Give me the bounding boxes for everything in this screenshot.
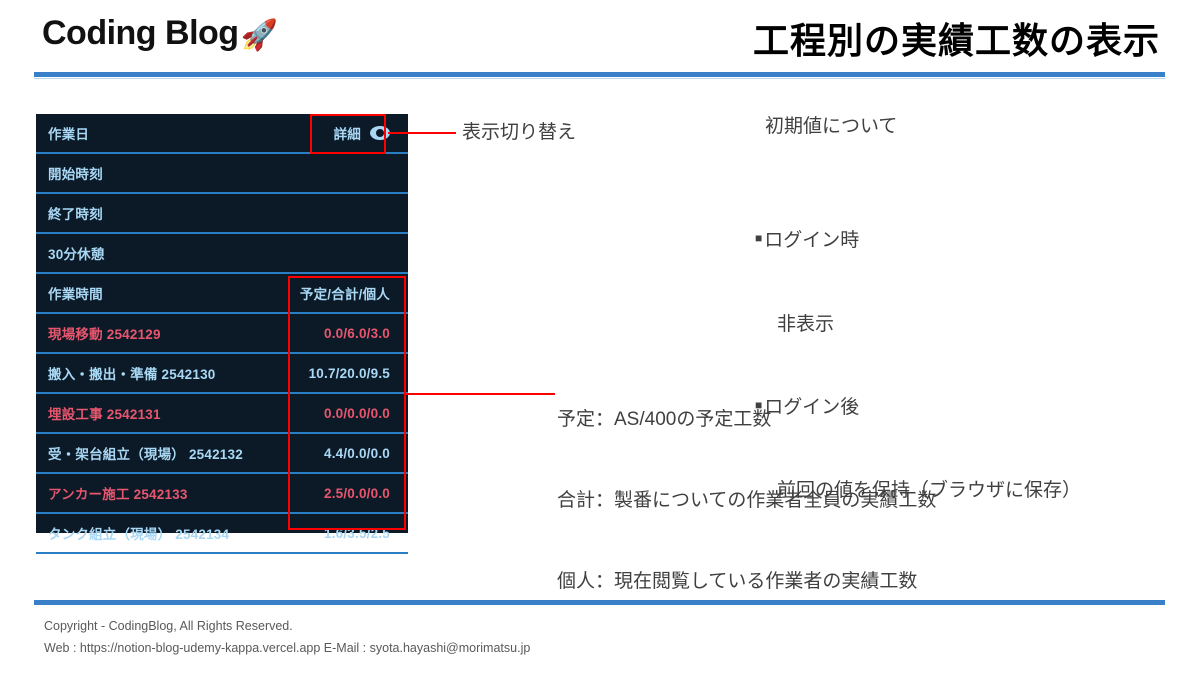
column-header-values: 予定/合計/個人 bbox=[300, 283, 396, 303]
leader-line-columns bbox=[405, 393, 555, 395]
row-label: 開始時刻 bbox=[48, 163, 103, 183]
row-value: 0.0/0.0/0.0 bbox=[324, 406, 396, 421]
slide: Coding Blog 🚀 工程別の実績工数の表示 作業日 詳細 開始時刻 終了… bbox=[0, 0, 1200, 677]
table-row[interactable]: アンカー施工 2542133 2.5/0.0/0.0 bbox=[36, 474, 408, 514]
row-value: 0.0/6.0/3.0 bbox=[324, 326, 396, 341]
footer-contact: Web : https://notion-blog-udemy-kappa.ve… bbox=[44, 638, 530, 660]
table-row[interactable]: 作業日 詳細 bbox=[36, 114, 408, 154]
row-value: 1.6/3.5/2.5 bbox=[324, 526, 396, 541]
brand-logo: Coding Blog 🚀 bbox=[42, 14, 277, 53]
table-row[interactable]: 終了時刻 bbox=[36, 194, 408, 234]
row-label: アンカー施工 2542133 bbox=[48, 483, 188, 503]
legend-line-kojin: 個人：現在閲覧している作業者の実績工数 bbox=[557, 569, 936, 596]
row-label: 受・架台組立（現場） 2542132 bbox=[48, 443, 243, 463]
row-label: 作業時間 bbox=[48, 283, 103, 303]
row-value: 4.4/0.0/0.0 bbox=[324, 446, 396, 461]
row-label: 現場移動 2542129 bbox=[48, 323, 161, 343]
table-row[interactable]: 埋設工事 2542131 0.0/0.0/0.0 bbox=[36, 394, 408, 434]
row-value: 2.5/0.0/0.0 bbox=[324, 486, 396, 501]
detail-toggle-button[interactable]: 詳細 bbox=[334, 123, 396, 143]
brand-text: Coding Blog bbox=[42, 14, 239, 53]
row-label: 作業日 bbox=[48, 123, 89, 143]
list-item-detail: 非表示 bbox=[755, 311, 1081, 339]
row-label: タンク組立（現場） 2542134 bbox=[48, 523, 229, 543]
row-value: 10.7/20.0/9.5 bbox=[309, 366, 396, 381]
header-divider-thin bbox=[34, 78, 1165, 79]
page-title: 工程別の実績工数の表示 bbox=[753, 12, 1160, 64]
rocket-icon: 🚀 bbox=[241, 21, 278, 51]
annotation-toggle: 表示切り替え bbox=[462, 120, 576, 147]
list-item: ■ ログイン後 bbox=[755, 394, 1081, 422]
list-item-detail: 前回の値を保持（ブラウザに保存） bbox=[755, 477, 1081, 505]
row-label: 終了時刻 bbox=[48, 203, 103, 223]
annotation-initial-list: ■ ログイン時 非表示 ■ ログイン後 前回の値を保持（ブラウザに保存） bbox=[755, 172, 1081, 560]
row-label: 埋設工事 2542131 bbox=[48, 403, 161, 423]
list-item-head: ログイン後 bbox=[764, 394, 859, 422]
square-bullet-icon: ■ bbox=[755, 227, 762, 250]
detail-label: 詳細 bbox=[334, 123, 361, 143]
row-label: 30分休憩 bbox=[48, 243, 105, 263]
row-label: 搬入・搬出・準備 2542130 bbox=[48, 363, 216, 383]
table-row[interactable]: 受・架台組立（現場） 2542132 4.4/0.0/0.0 bbox=[36, 434, 408, 474]
work-hours-table: 作業日 詳細 開始時刻 終了時刻 30分休憩 作業時間 予定/合計/個人 bbox=[36, 114, 408, 533]
table-row[interactable]: タンク組立（現場） 2542134 1.6/3.5/2.5 bbox=[36, 514, 408, 554]
header-divider bbox=[34, 72, 1165, 77]
table-header-row: 作業時間 予定/合計/個人 bbox=[36, 274, 408, 314]
table-row[interactable]: 搬入・搬出・準備 2542130 10.7/20.0/9.5 bbox=[36, 354, 408, 394]
table-row[interactable]: 30分休憩 bbox=[36, 234, 408, 274]
list-item: ■ ログイン時 bbox=[755, 227, 1081, 255]
leader-line-toggle bbox=[388, 132, 456, 134]
footer-divider bbox=[34, 600, 1165, 605]
table-row[interactable]: 現場移動 2542129 0.0/6.0/3.0 bbox=[36, 314, 408, 354]
eye-icon[interactable] bbox=[370, 126, 390, 140]
square-bullet-icon: ■ bbox=[755, 394, 762, 417]
footer: Copyright - CodingBlog, All Rights Reser… bbox=[44, 616, 530, 660]
footer-copyright: Copyright - CodingBlog, All Rights Reser… bbox=[44, 616, 530, 638]
list-item-head: ログイン時 bbox=[764, 227, 859, 255]
table-row[interactable]: 開始時刻 bbox=[36, 154, 408, 194]
eye-pupil bbox=[376, 129, 384, 137]
annotation-initial-title: 初期値について bbox=[765, 114, 897, 141]
